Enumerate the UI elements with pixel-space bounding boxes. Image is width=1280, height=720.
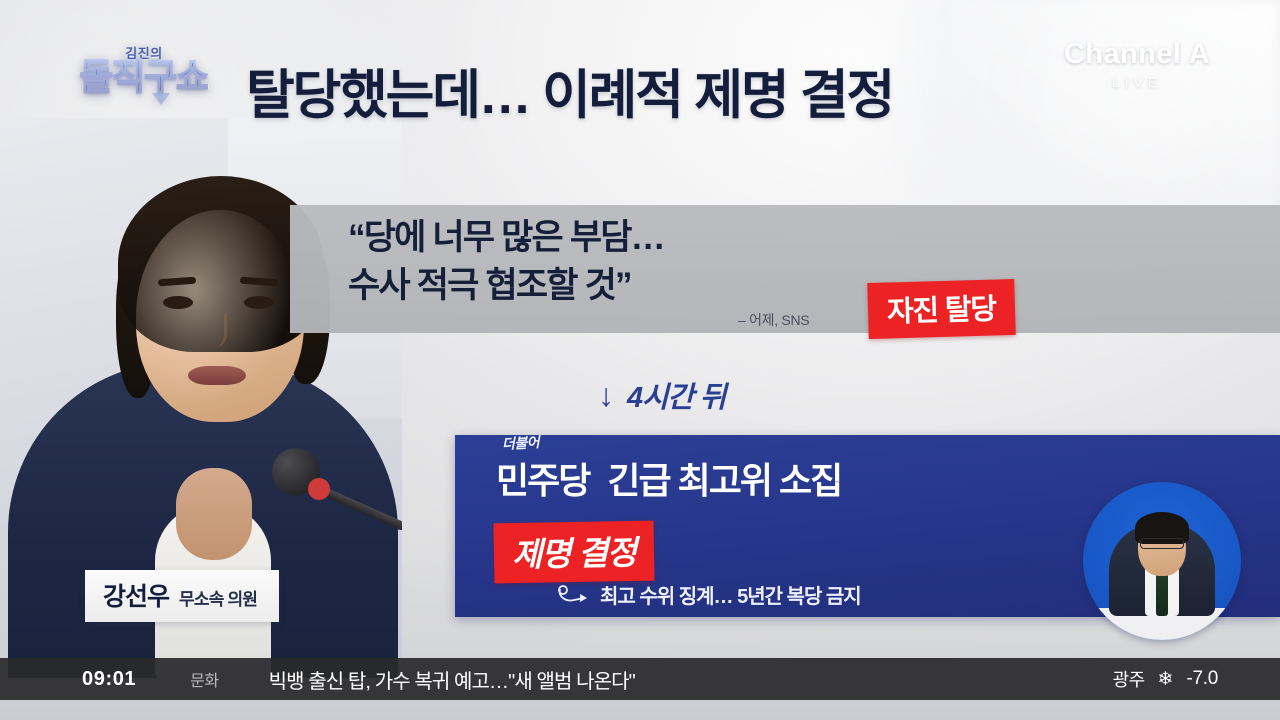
photo-neck	[176, 468, 252, 560]
curved-arrow-icon	[556, 585, 590, 605]
badge-self-withdrawal: 자진 탈당	[867, 279, 1015, 339]
broadcast-screen: 김진의 돌직구쇼 Channel A LIVE 탈당했는데… 이례적 제명 결정…	[0, 0, 1280, 720]
weather-widget: 광주 ❄ -7.0	[1113, 666, 1218, 692]
main-headline: 탈당했는데… 이례적 제명 결정	[246, 66, 1076, 125]
ticker-category: 문화	[190, 667, 218, 691]
party-brand-name: 민주당	[496, 460, 589, 501]
sign-language-interpreter-inset	[1083, 482, 1241, 640]
badge-expulsion-decision: 제명 결정	[493, 521, 654, 584]
transition-marker: ↓ 4시간 뒤	[598, 374, 725, 416]
party-headline-row: 더불어 민주당 긴급 최고위 소집	[496, 452, 841, 504]
photo-eye-right	[244, 296, 274, 309]
photo-eye-left	[163, 296, 193, 309]
party-subnote: 최고 수위 징계… 5년간 복당 금지	[556, 580, 861, 609]
photo-mouth	[188, 366, 246, 385]
speaker-name: 강선우	[103, 577, 169, 613]
show-logo-title: 돌직구쇼	[80, 58, 208, 96]
weather-temperature: -7.0	[1186, 668, 1218, 690]
party-headline: 긴급 최고위 소집	[607, 452, 841, 504]
speaker-name-tag: 강선우 무소속 의원	[85, 570, 279, 622]
quote-source: – 어제, SNS	[738, 310, 809, 330]
transition-label: 4시간 뒤	[627, 374, 725, 416]
speaker-title: 무소속 의원	[179, 585, 257, 610]
photo-nose	[205, 314, 227, 348]
snowflake-icon: ❄	[1158, 668, 1174, 691]
ticker-time: 09:01	[82, 668, 136, 691]
party-brand-prefix: 더불어	[502, 432, 540, 454]
ticker-headline: 빅뱅 출신 탑, 가수 복귀 예고…"새 앨범 나온다"	[269, 665, 635, 694]
weather-city: 광주	[1113, 666, 1145, 692]
glasses-icon	[1140, 538, 1184, 549]
microphone-indicator-icon	[308, 478, 330, 500]
show-logo: 김진의 돌직구쇼	[46, 30, 242, 118]
show-logo-speech-tail-icon	[152, 93, 170, 105]
news-ticker-bar: 09:01 문화 빅뱅 출신 탑, 가수 복귀 예고…"새 앨범 나온다" 광주…	[0, 658, 1280, 700]
party-subnote-text: 최고 수위 징계… 5년간 복당 금지	[600, 580, 861, 609]
party-brand: 더불어 민주당	[496, 452, 589, 504]
quote-text: “당에 너무 많은 부담… 수사 적극 협조할 것”	[348, 214, 908, 311]
arrow-down-icon: ↓	[598, 379, 614, 411]
